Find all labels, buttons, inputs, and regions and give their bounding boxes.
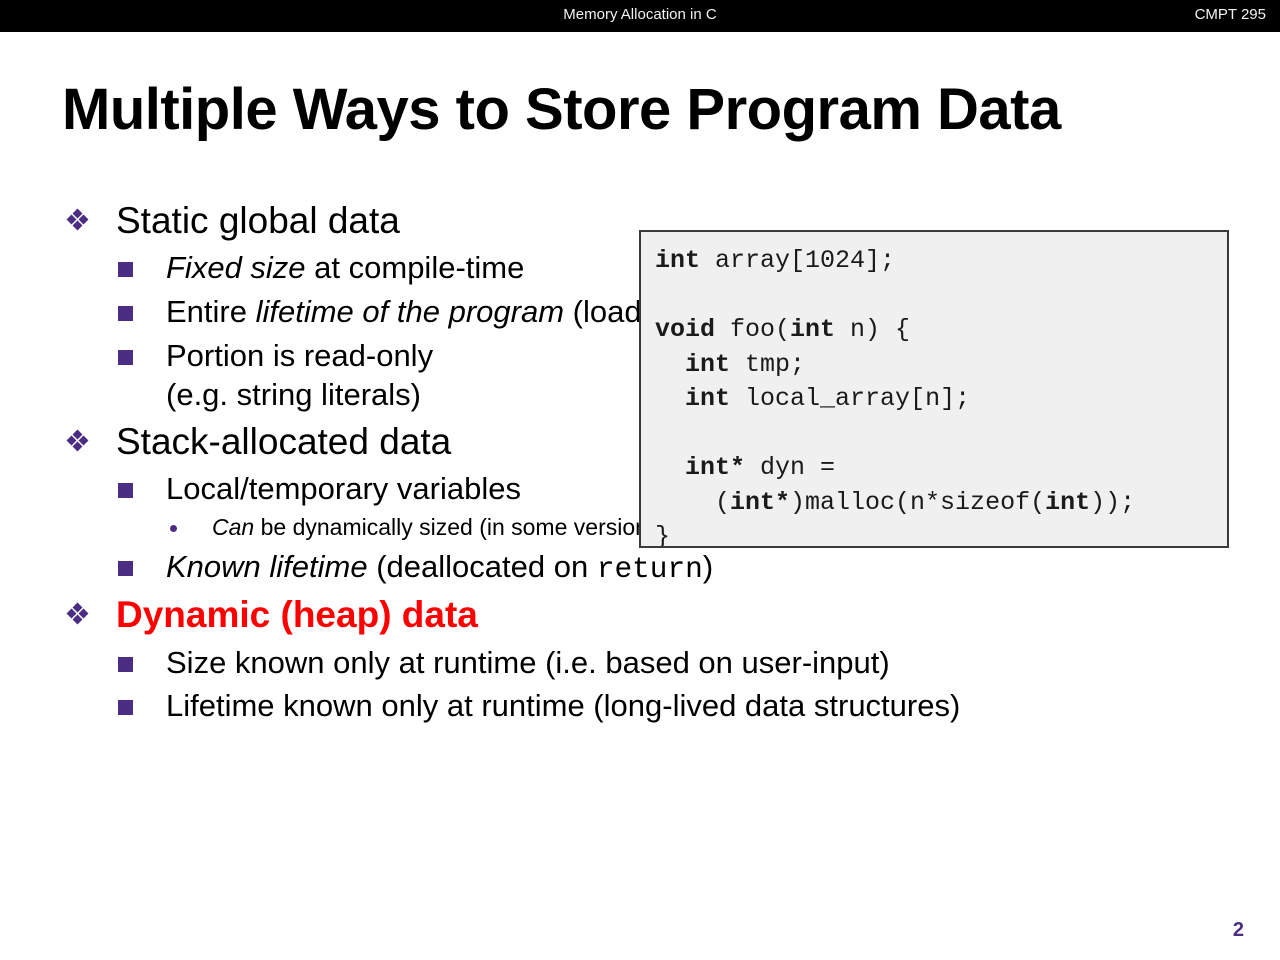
slide-page-number: 2 [1233, 919, 1244, 942]
square-bullet-icon [112, 684, 166, 715]
header-lecture-title: Memory Allocation in C [0, 6, 1280, 23]
list-item-prefix: Entire [166, 294, 256, 329]
list-item-label: Fixed size at compile-time [166, 246, 524, 288]
list-item: Dynamic (heap) data [62, 590, 1222, 638]
list-item-label: Known lifetime (deallocated on return) [166, 545, 713, 589]
list-item-rest: at compile-time [306, 250, 525, 285]
square-bullet-icon [112, 545, 166, 576]
list-item-label: Lifetime known only at runtime (long-liv… [166, 684, 960, 726]
list-item-label: Size known only at runtime (i.e. based o… [166, 641, 890, 683]
list-item-label: Stack-allocated data [116, 417, 451, 465]
code-block: int array[1024]; void foo(int n) { int t… [655, 244, 1213, 548]
list-item: Lifetime known only at runtime (long-liv… [112, 684, 1222, 726]
diamond-cluster-bullet-icon [62, 196, 116, 230]
list-item-label: Portion is read-only(e.g. string literal… [166, 334, 433, 415]
diamond-cluster-bullet-icon [62, 590, 116, 624]
square-bullet-icon [112, 246, 166, 277]
list-item: Known lifetime (deallocated on return) [112, 545, 1222, 589]
list-item-code-token: return [597, 552, 703, 586]
list-item-label: Static global data [116, 196, 400, 244]
list-item-suffix: ) [703, 549, 713, 584]
list-item-emphasis: Known lifetime [166, 549, 368, 584]
list-item-label: Local/temporary variables [166, 467, 521, 509]
diamond-cluster-bullet-icon [62, 417, 116, 451]
square-bullet-icon [112, 467, 166, 498]
list-item-emphasis: Can [212, 514, 254, 540]
list-item-emphasis: lifetime of the program [256, 294, 564, 329]
list-item-middle: (deallocated on [368, 549, 597, 584]
list-item: Size known only at runtime (i.e. based o… [112, 641, 1222, 683]
header-course-code: CMPT 295 [1195, 6, 1266, 23]
square-bullet-icon [112, 641, 166, 672]
list-item-label-highlighted: Dynamic (heap) data [116, 590, 478, 638]
square-bullet-icon [112, 290, 166, 321]
page-title: Multiple Ways to Store Program Data [62, 76, 1061, 143]
square-bullet-icon [112, 334, 166, 365]
dot-bullet-icon [162, 511, 212, 532]
list-item-emphasis: Fixed size [166, 250, 306, 285]
code-example-box: int array[1024]; void foo(int n) { int t… [639, 230, 1229, 548]
list-item-line-2: (e.g. string literals) [166, 377, 421, 412]
slide-header-bar: Memory Allocation in C CMPT 295 [0, 0, 1280, 32]
list-item-line-1: Portion is read-only [166, 338, 433, 373]
